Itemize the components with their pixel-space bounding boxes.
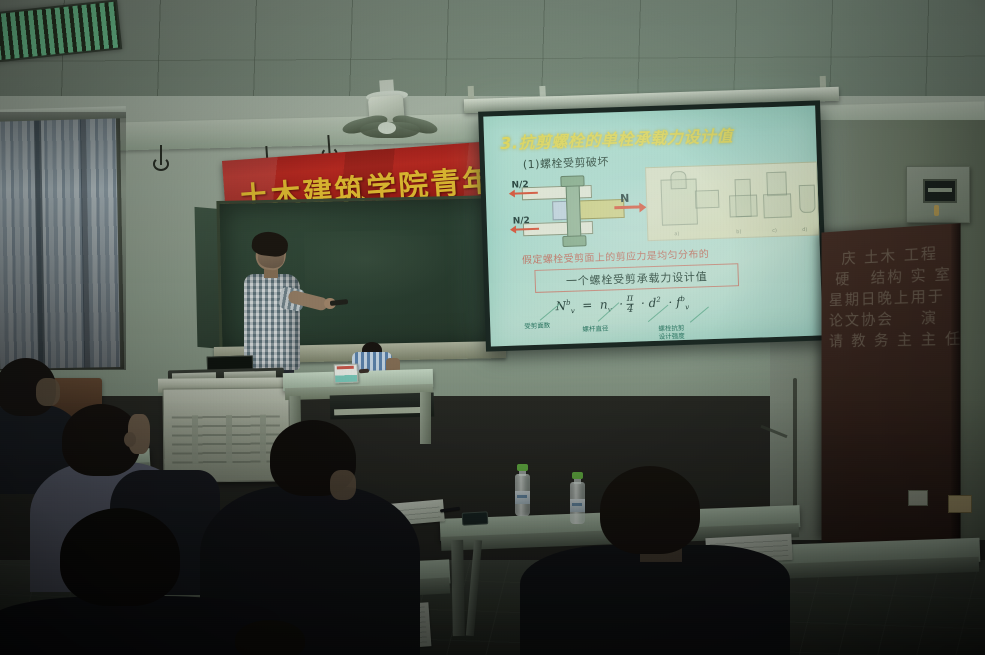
blackboard-chalk-text: 庆 土木 工程 硬 结构 实 室 星期日晚上用于 论文协会 演 请 教 务 主 … (829, 242, 956, 376)
wall-outlet (948, 495, 972, 513)
audience-person-hand (330, 470, 356, 500)
figure-caption-a: a) (674, 231, 679, 237)
slide-surface: 3.抗剪螺栓的单栓承载力设计值 (1)螺栓受剪破坏 N/2 N/2 N (483, 106, 822, 347)
formula-fraction: π4 (627, 294, 634, 315)
label-n-half-top: N/2 (511, 180, 528, 191)
wall-switch (908, 490, 928, 506)
audience-person-face (36, 378, 60, 406)
audience-person-head (60, 508, 180, 606)
marker-pen (359, 369, 369, 374)
bottle-cap (572, 472, 583, 479)
side-notice-blackboard: 庆 土木 工程 硬 结构 实 室 星期日晚上用于 论文协会 演 请 教 务 主 … (822, 223, 961, 551)
slide-highlight-box: 一个螺栓受剪承载力设计值 (534, 263, 739, 293)
bolt-shank-icon (565, 179, 581, 241)
electrical-panel-icon (906, 166, 970, 223)
label-n-half-bottom: N/2 (513, 216, 530, 227)
annotation-design-strength: 设计强度 (659, 332, 685, 341)
bolt-shear-diagram: N/2 N/2 N (507, 171, 644, 247)
annotation-leader (690, 307, 709, 323)
audience-person-head (235, 620, 305, 655)
annotation-shear-planes: 受剪面数 (524, 321, 550, 330)
bolt-nut-icon (562, 235, 586, 247)
water-bottle (515, 464, 530, 516)
banner-hook-icon (160, 145, 162, 165)
force-arrow-right (614, 205, 640, 209)
formula-term3-sup: b (680, 295, 685, 303)
panel-latch (934, 205, 939, 216)
bottle-cap (517, 464, 528, 471)
wall-conduit (793, 378, 797, 508)
formula-lhs-sub: v (571, 307, 575, 315)
mobile-phone (462, 511, 489, 525)
water-bottle (570, 472, 585, 524)
teaching-desk-leg (420, 392, 431, 444)
slide-subtitle: (1)螺栓受剪破坏 (523, 153, 610, 172)
slide-box-text: 一个螺栓受剪承载力设计值 (566, 268, 708, 289)
teaching-desk-shelf (330, 393, 435, 420)
label-n: N (620, 192, 630, 205)
cabinet-panels (164, 415, 272, 464)
chalk-smudge (304, 229, 459, 304)
audience-person-head (600, 466, 700, 554)
failure-figure-b-plate (729, 195, 758, 218)
formula-frac-num: π (627, 294, 634, 304)
figure-caption-d: d) (802, 227, 807, 233)
projection-screen: 3.抗剪螺栓的单栓承载力设计值 (1)螺栓受剪破坏 N/2 N/2 N (478, 100, 828, 351)
desk-leg (451, 540, 465, 636)
window-curtain (0, 117, 120, 369)
formula-frac-den: 4 (627, 304, 634, 315)
failure-figure-c (766, 172, 787, 197)
failure-figure-c-plate (763, 193, 792, 218)
classroom-photo: 土木建筑学院青年教 3.抗剪螺栓的单栓承载力设计值 (1)螺栓受剪破坏 (0, 0, 985, 655)
failure-figure-a-plate (695, 190, 720, 209)
bolt-failure-modes-illustration: a) b) c) d) (645, 162, 819, 242)
formula-equals: = (582, 298, 593, 312)
slide-formula: Nbv = nv · π4 · d2 · fbv (555, 292, 689, 317)
chalk-box (334, 364, 359, 384)
slide-assumption-text: 假定螺栓受剪面上的剪应力是均匀分布的 (522, 245, 710, 266)
window-frame (0, 111, 124, 371)
audience-person-ear (124, 432, 136, 447)
panel-window (923, 179, 957, 203)
formula-term3-sub: v (685, 303, 689, 311)
bolt-head-icon (560, 175, 584, 187)
failure-figure-d (799, 185, 816, 214)
annotation-bolt-diameter: 螺杆直径 (582, 325, 608, 334)
failure-figure-a-bolt (670, 171, 687, 190)
figure-caption-c: c) (772, 228, 777, 234)
figure-caption-b: b) (736, 229, 741, 235)
formula-lhs-sup: b (566, 299, 571, 307)
fan-hub (378, 122, 396, 134)
formula-term2-sup: 2 (656, 296, 661, 304)
slide-title: 3.抗剪螺栓的单栓承载力设计值 (500, 122, 733, 154)
